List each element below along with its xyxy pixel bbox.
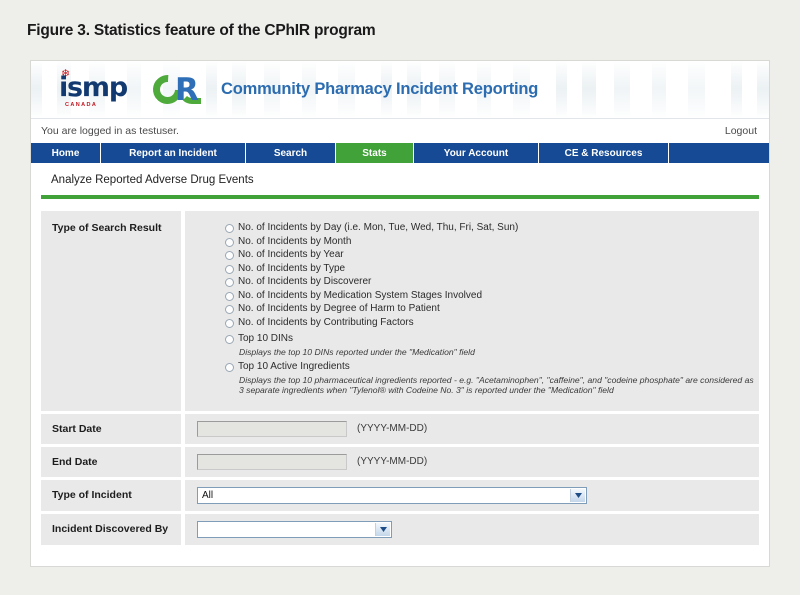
radio-button-icon[interactable] <box>225 305 234 314</box>
end-date-format-hint: (YYYY-MM-DD) <box>357 456 427 467</box>
radio-option-label: No. of Incidents by Medication System St… <box>238 290 482 303</box>
nav-item-ce-resources[interactable]: CE & Resources <box>539 143 669 163</box>
nav-item-stats[interactable]: Stats <box>336 143 414 163</box>
page-title: Analyze Reported Adverse Drug Events <box>41 163 759 195</box>
field-type-of-incident: All <box>185 480 759 511</box>
nav-item-label: Search <box>274 148 307 159</box>
label-start-date: Start Date <box>41 414 181 444</box>
form-row-end-date: End Date (YYYY-MM-DD) <box>41 447 759 477</box>
radio-button-icon[interactable] <box>225 224 234 233</box>
radio-option[interactable]: No. of Incidents by Medication System St… <box>225 290 759 303</box>
radio-option[interactable]: Top 10 Active Ingredients <box>225 361 759 374</box>
nav-item-report-an-incident[interactable]: Report an Incident <box>101 143 246 163</box>
radio-button-icon[interactable] <box>225 292 234 301</box>
app-title: Community Pharmacy Incident Reporting <box>221 80 538 99</box>
nav-spacer <box>669 143 769 163</box>
radio-option[interactable]: No. of Incidents by Discoverer <box>225 276 759 289</box>
nav-item-label: CE & Resources <box>565 148 643 159</box>
label-incident-discovered-by: Incident Discovered By <box>41 514 181 545</box>
radio-option[interactable]: No. of Incidents by Contributing Factors <box>225 317 759 330</box>
page-body: Analyze Reported Adverse Drug Events Typ… <box>31 163 769 545</box>
field-incident-discovered-by <box>185 514 759 545</box>
radio-option[interactable]: No. of Incidents by Type <box>225 263 759 276</box>
login-status-bar: You are logged in as testuser. Logout <box>31 119 769 143</box>
radio-button-icon[interactable] <box>225 238 234 247</box>
radio-option-label: No. of Incidents by Month <box>238 236 351 249</box>
search-result-radio-group: No. of Incidents by Day (i.e. Mon, Tue, … <box>197 222 759 396</box>
nav-item-label: Your Account <box>444 148 508 159</box>
app-header: ❄ ismp CANADA R Community Pharmacy Incid… <box>31 61 769 119</box>
chevron-down-icon[interactable] <box>570 489 585 502</box>
radio-option-label: No. of Incidents by Day (i.e. Mon, Tue, … <box>238 222 518 235</box>
start-date-format-hint: (YYYY-MM-DD) <box>357 423 427 434</box>
radio-option-label: No. of Incidents by Year <box>238 249 344 262</box>
nav-item-label: Stats <box>362 148 386 159</box>
radio-option[interactable]: No. of Incidents by Month <box>225 236 759 249</box>
label-end-date: End Date <box>41 447 181 477</box>
radio-option-label: Top 10 Active Ingredients <box>238 361 350 374</box>
ismp-wordmark: ismp <box>59 74 127 101</box>
type-of-incident-value: All <box>198 490 213 501</box>
label-type-of-search-result: Type of Search Result <box>41 211 181 411</box>
end-date-input[interactable] <box>197 454 347 470</box>
nav-item-search[interactable]: Search <box>246 143 336 163</box>
radio-option-label: No. of Incidents by Type <box>238 263 345 276</box>
nav-item-your-account[interactable]: Your Account <box>414 143 539 163</box>
radio-button-icon[interactable] <box>225 363 234 372</box>
logout-link[interactable]: Logout <box>725 125 757 137</box>
field-start-date: (YYYY-MM-DD) <box>185 414 759 444</box>
ismp-canada-logo: ❄ ismp CANADA <box>59 73 133 107</box>
radio-option-label: No. of Incidents by Discoverer <box>238 276 371 289</box>
form-row-incident-discovered-by: Incident Discovered By <box>41 514 759 545</box>
form-row-start-date: Start Date (YYYY-MM-DD) <box>41 414 759 444</box>
radio-option[interactable]: No. of Incidents by Day (i.e. Mon, Tue, … <box>225 222 759 235</box>
incident-discovered-by-select[interactable] <box>197 521 392 538</box>
cr-logo-r-letter: R <box>175 75 199 105</box>
radio-option-label: Top 10 DINs <box>238 333 293 346</box>
field-type-of-search-result: No. of Incidents by Day (i.e. Mon, Tue, … <box>185 211 759 411</box>
radio-option[interactable]: No. of Incidents by Degree of Harm to Pa… <box>225 303 759 316</box>
radio-option[interactable]: No. of Incidents by Year <box>225 249 759 262</box>
radio-option-label: No. of Incidents by Degree of Harm to Pa… <box>238 303 440 316</box>
start-date-input[interactable] <box>197 421 347 437</box>
radio-option-description: Displays the top 10 pharmaceutical ingre… <box>239 375 759 396</box>
field-end-date: (YYYY-MM-DD) <box>185 447 759 477</box>
nav-item-home[interactable]: Home <box>31 143 101 163</box>
radio-option-description: Displays the top 10 DINs reported under … <box>239 347 759 358</box>
main-navigation: HomeReport an IncidentSearchStatsYour Ac… <box>31 143 769 163</box>
radio-button-icon[interactable] <box>225 319 234 328</box>
label-type-of-incident: Type of Incident <box>41 480 181 511</box>
radio-button-icon[interactable] <box>225 265 234 274</box>
form-row-search-result: Type of Search Result No. of Incidents b… <box>41 211 759 411</box>
title-divider <box>41 195 759 199</box>
cphir-cr-logo: R <box>153 74 209 106</box>
app-window-screenshot: ❄ ismp CANADA R Community Pharmacy Incid… <box>30 60 770 567</box>
form-row-type-of-incident: Type of Incident All <box>41 480 759 511</box>
ismp-canada-subtext: CANADA <box>65 102 97 108</box>
type-of-incident-select[interactable]: All <box>197 487 587 504</box>
login-status-text: You are logged in as testuser. <box>41 125 179 137</box>
radio-button-icon[interactable] <box>225 278 234 287</box>
radio-option[interactable]: Top 10 DINs <box>225 333 759 346</box>
nav-item-label: Report an Incident <box>129 148 217 159</box>
stats-query-form: Type of Search Result No. of Incidents b… <box>41 211 759 545</box>
chevron-down-icon[interactable] <box>375 523 390 536</box>
radio-option-label: No. of Incidents by Contributing Factors <box>238 317 414 330</box>
figure-caption: Figure 3. Statistics feature of the CPhI… <box>27 22 376 40</box>
radio-button-icon[interactable] <box>225 335 234 344</box>
radio-button-icon[interactable] <box>225 251 234 260</box>
nav-item-label: Home <box>52 148 80 159</box>
